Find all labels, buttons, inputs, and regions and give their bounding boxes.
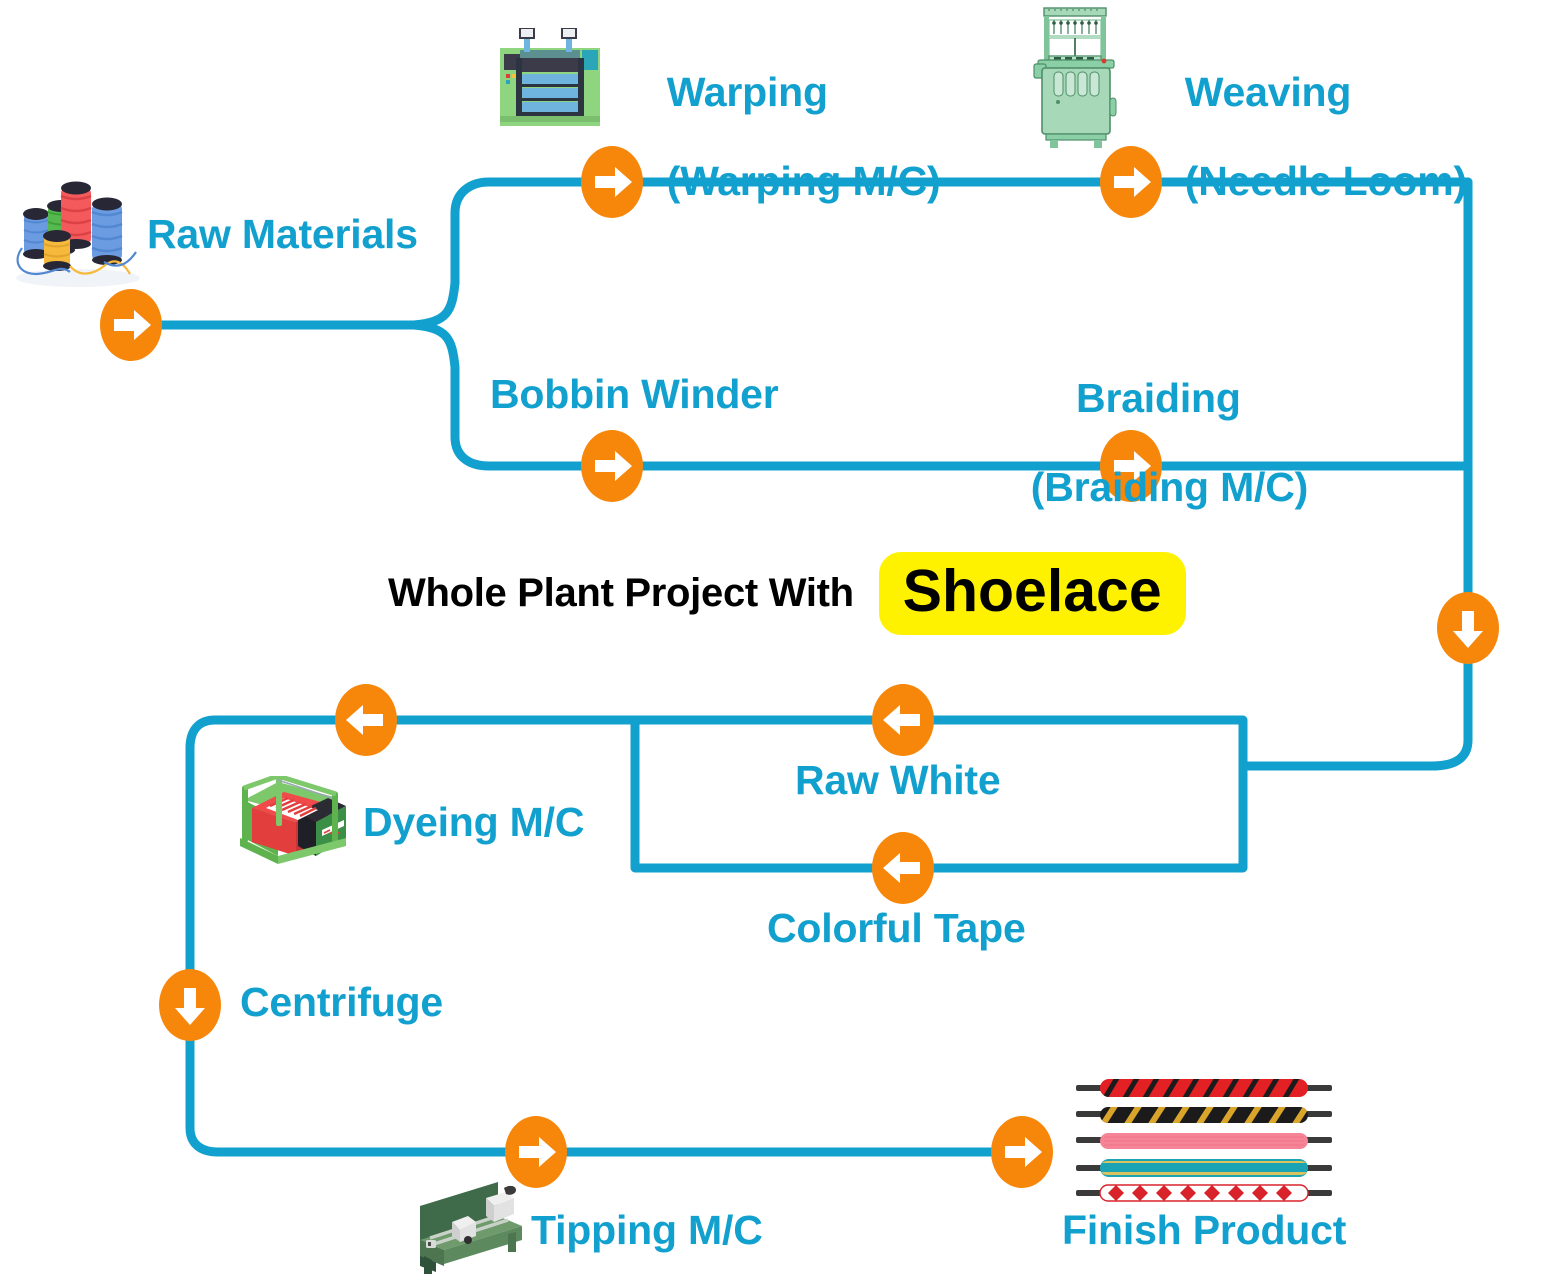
label-dyeing-machine: Dyeing M/C: [363, 800, 584, 844]
diagram-title-prefix: Whole Plant Project With: [388, 571, 865, 616]
needle-loom-icon: [1028, 2, 1124, 150]
arrow-to-finish-product[interactable]: [991, 1116, 1053, 1188]
tipping-machine-icon: [412, 1182, 534, 1276]
thread-spools-icon: [8, 178, 148, 288]
label-tipping-machine: Tipping M/C: [531, 1208, 763, 1252]
label-braiding-line2: (Braiding M/C): [1031, 464, 1308, 510]
label-warping-line2: (Warping M/C): [667, 158, 941, 204]
dyeing-machine-icon: [232, 776, 350, 868]
label-colorful-tape: Colorful Tape: [767, 906, 1026, 950]
label-raw-materials: Raw Materials: [147, 212, 418, 256]
diagram-title: Whole Plant Project With Shoelace: [388, 556, 1186, 630]
label-braiding: Braiding (Braiding M/C): [986, 332, 1286, 553]
label-weaving-line1: Weaving: [1185, 69, 1351, 115]
flow-diagram-canvas: Raw Materials Warping (Warping M/C) Weav…: [0, 0, 1562, 1281]
label-warping: Warping (Warping M/C): [622, 26, 940, 247]
arrow-raw-white-in[interactable]: [872, 684, 934, 756]
label-warping-line1: Warping: [667, 69, 828, 115]
arrow-raw-materials-out[interactable]: [100, 289, 162, 361]
arrow-to-bobbin-winder[interactable]: [581, 430, 643, 502]
arrow-to-dyeing[interactable]: [335, 684, 397, 756]
arrow-to-tipping[interactable]: [505, 1116, 567, 1188]
shoelaces-icon: [1070, 1073, 1338, 1207]
label-weaving: Weaving (Needle Loom): [1140, 26, 1467, 247]
arrow-colorful-tape-in[interactable]: [872, 832, 934, 904]
label-bobbin-winder: Bobbin Winder: [490, 372, 779, 416]
label-centrifuge: Centrifuge: [240, 980, 443, 1024]
arrow-down-right-trunk[interactable]: [1437, 592, 1499, 664]
label-braiding-line1: Braiding: [1076, 375, 1241, 421]
diagram-title-highlight: Shoelace: [879, 552, 1186, 635]
label-weaving-line2: (Needle Loom): [1185, 158, 1467, 204]
label-finish-product: Finish Product: [1062, 1208, 1346, 1252]
arrow-to-centrifuge[interactable]: [159, 969, 221, 1041]
label-raw-white: Raw White: [795, 758, 1000, 802]
warping-machine-icon: [498, 28, 602, 132]
